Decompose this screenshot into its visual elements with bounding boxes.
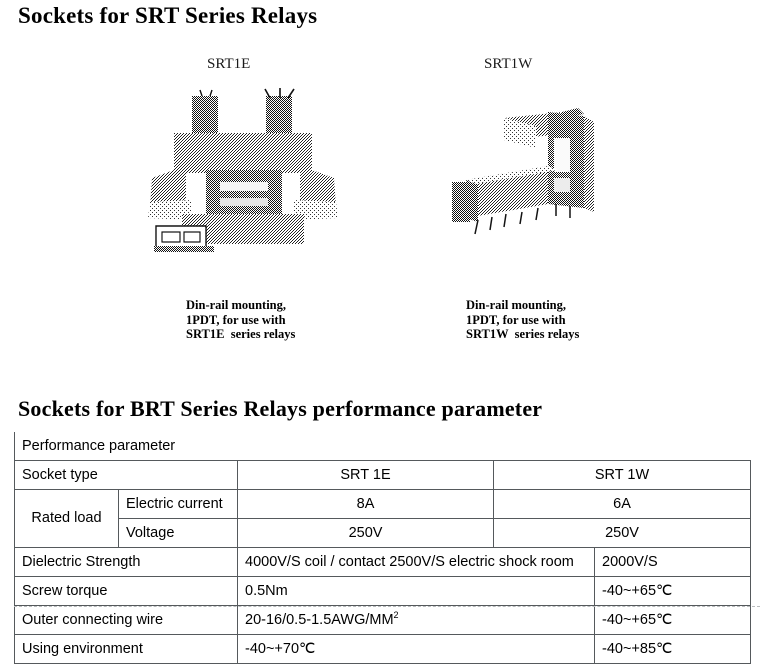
figure-caption-srt1w: Din-rail mounting, 1PDT, for use with SR… [466, 298, 579, 342]
cell-using-environment-value: -40~+70℃ [238, 635, 595, 664]
wire-value-text: 20-16/0.5-1.5AWG/MM [245, 612, 394, 628]
cell-socket-type-srt1w: SRT 1W [494, 461, 751, 490]
srt1e-socket-photo [146, 86, 340, 261]
cell-socket-type-label: Socket type [15, 461, 238, 490]
table-row-dielectric-strength: Dielectric Strength 4000V/S coil / conta… [15, 548, 751, 577]
cell-outer-connecting-wire-value: 20-16/0.5-1.5AWG/MM2 [238, 606, 595, 635]
table-row-socket-type: Socket type SRT 1E SRT 1W [15, 461, 751, 490]
cell-performance-parameter: Performance parameter [15, 432, 751, 461]
srt1w-socket-illustration [444, 104, 610, 256]
figure-label-srt1e: SRT1E [207, 56, 250, 73]
cell-electric-current-srt1e: 8A [238, 490, 494, 519]
table-row-screw-torque: Screw torque 0.5Nm -40~+65℃ [15, 577, 751, 606]
cell-screw-torque-label: Screw torque [15, 577, 238, 606]
cell-electric-current-srt1w: 6A [494, 490, 751, 519]
cell-using-environment-label: Using environment [15, 635, 238, 664]
srt1w-socket-photo [444, 104, 610, 256]
cell-rated-load-label: Rated load [15, 490, 119, 548]
performance-parameter-table: Performance parameter Socket type SRT 1E… [14, 432, 751, 664]
page-title-performance-parameter: Sockets for BRT Series Relays performanc… [18, 396, 542, 422]
cell-outer-connecting-wire-label: Outer connecting wire [15, 606, 238, 635]
cell-socket-type-srt1e: SRT 1E [238, 461, 494, 490]
table-row-performance-parameter: Performance parameter [15, 432, 751, 461]
cell-screw-torque-value: 0.5Nm [238, 577, 595, 606]
cell-electric-current-label: Electric current [119, 490, 238, 519]
cell-dielectric-strength-right: 2000V/S [595, 548, 751, 577]
cell-dielectric-strength-label: Dielectric Strength [15, 548, 238, 577]
table-row-voltage: Voltage 250V 250V [15, 519, 751, 548]
cell-voltage-label: Voltage [119, 519, 238, 548]
table-row-electric-current: Rated load Electric current 8A 6A [15, 490, 751, 519]
figure-caption-srt1e: Din-rail mounting, 1PDT, for use with SR… [186, 298, 295, 342]
page-title-sockets-srt: Sockets for SRT Series Relays [18, 3, 317, 29]
table-row-using-environment: Using environment -40~+70℃ -40~+85℃ [15, 635, 751, 664]
cell-voltage-srt1w: 250V [494, 519, 751, 548]
srt1e-socket-illustration [146, 86, 340, 261]
cell-screw-torque-right: -40~+65℃ [595, 577, 751, 606]
cell-voltage-srt1e: 250V [238, 519, 494, 548]
cell-using-environment-right: -40~+85℃ [595, 635, 751, 664]
cell-dielectric-strength-value: 4000V/S coil / contact 2500V/S electric … [238, 548, 595, 577]
table-row-outer-connecting-wire: Outer connecting wire 20-16/0.5-1.5AWG/M… [15, 606, 751, 635]
figure-label-srt1w: SRT1W [484, 56, 532, 73]
wire-value-superscript: 2 [394, 610, 399, 620]
cell-outer-connecting-wire-right: -40~+65℃ [595, 606, 751, 635]
